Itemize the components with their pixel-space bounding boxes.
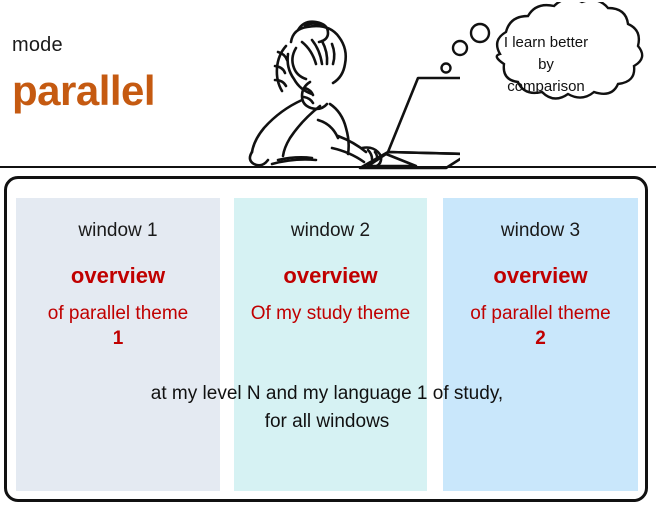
window-1-heading: overview [16,263,220,289]
window-1-theme-number: 1 [16,326,220,351]
window-panel-1[interactable]: window 1 overview of parallel theme 1 [16,198,220,491]
window-2-description-line-1: Of my study [251,303,352,324]
mode-label: mode [12,34,63,57]
mode-name-parallel: parallel [12,67,155,115]
window-3-description-text: of parallel theme [470,303,610,324]
person-laptop-svg [210,0,460,174]
window-3-heading: overview [443,263,638,289]
window-1-description-text: of parallel theme [48,303,188,324]
window-2-description: Of my study theme [234,301,427,326]
caption-line-1: at my level N and my language 1 of study… [16,380,638,408]
window-3-title: window 3 [443,220,638,242]
caption-line-2: for all windows [16,408,638,436]
thought-dot-small [442,64,451,73]
header: mode parallel [0,0,656,168]
window-panel-3[interactable]: window 3 overview of parallel theme 2 [443,198,638,491]
window-2-title: window 2 [234,220,427,242]
thought-bubble-line-2: by [466,54,626,76]
person-studying-at-laptop-illustration [210,0,460,174]
window-1-title: window 1 [16,220,220,242]
window-1-description: of parallel theme 1 [16,301,220,351]
thought-bubble-line-3: comparison [466,76,626,98]
window-2-description-line-2: theme [357,303,410,324]
window-panel-2[interactable]: window 2 overview Of my study theme [234,198,427,491]
thought-dot-medium [453,41,467,55]
window-3-description: of parallel theme 2 [443,301,638,351]
thought-bubble-text: I learn better by comparison [466,32,626,98]
desk-baseline [0,166,656,168]
window-3-theme-number: 2 [443,326,638,351]
window-2-heading: overview [234,263,427,289]
shared-caption: at my level N and my language 1 of study… [16,380,638,436]
thought-bubble-line-1: I learn better [466,32,626,54]
